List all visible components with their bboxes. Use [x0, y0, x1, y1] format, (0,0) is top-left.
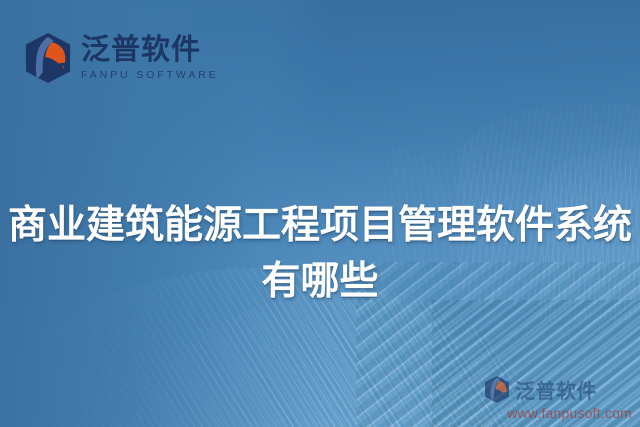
watermark: 泛普软件 www.fanpusoft.com: [484, 375, 632, 421]
watermark-brand-name: 泛普软件: [515, 375, 597, 404]
fanpu-hexagon-logo-icon: [24, 33, 72, 83]
watermark-url: www.fanpusoft.com: [484, 405, 632, 421]
promo-banner: 泛普软件 FANPU SOFTWARE 商业建筑能源工程项目管理软件系统 有哪些…: [0, 0, 640, 427]
brand-logo-text: 泛普软件 FANPU SOFTWARE: [81, 33, 219, 81]
brand-logo: 泛普软件 FANPU SOFTWARE: [24, 33, 219, 83]
fanpu-hexagon-logo-icon: [484, 376, 510, 403]
brand-name-en: FANPU SOFTWARE: [81, 69, 219, 81]
brand-name-cn: 泛普软件: [81, 35, 219, 66]
page-title-line-1: 商业建筑能源工程项目管理软件系统: [4, 198, 636, 253]
watermark-logo-row: 泛普软件: [484, 375, 632, 404]
page-title-line-2: 有哪些: [4, 254, 636, 309]
page-title: 商业建筑能源工程项目管理软件系统 有哪些: [0, 198, 640, 309]
